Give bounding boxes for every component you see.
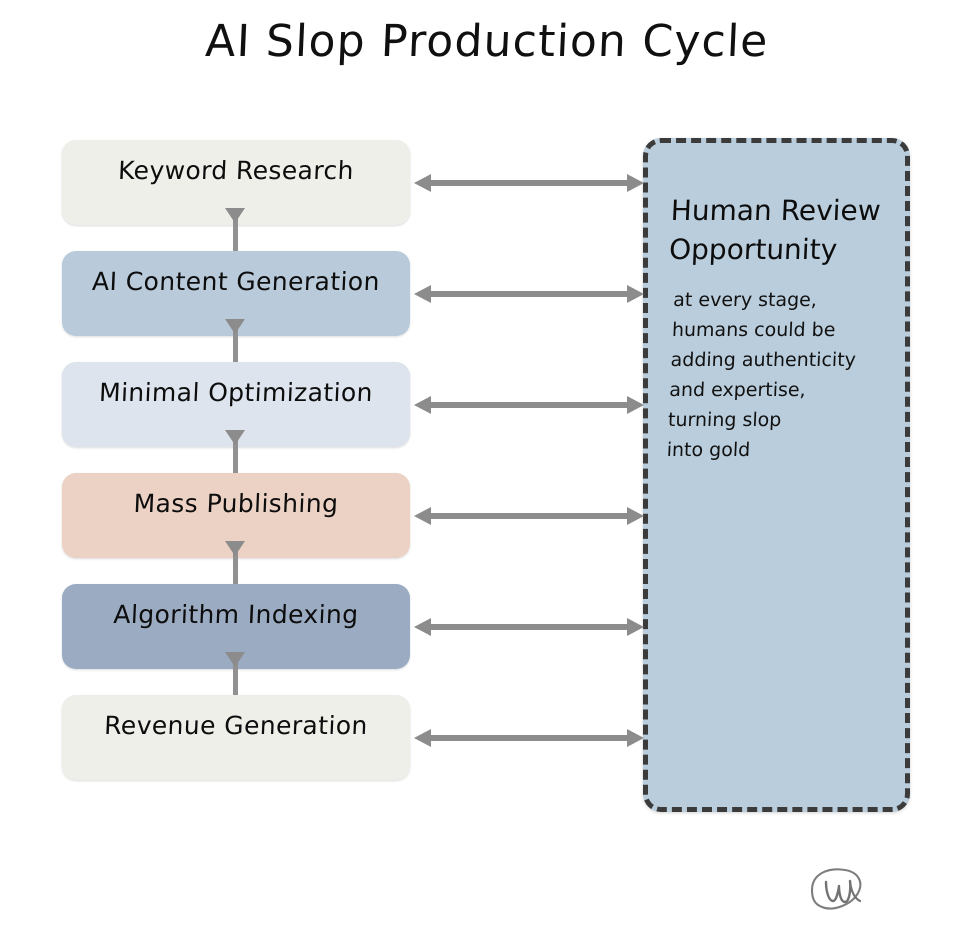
arrow-shaft (427, 624, 631, 630)
connector-arrowhead-down-icon (225, 319, 245, 334)
arrowhead-right-icon (627, 618, 644, 636)
page-title: AI Slop Production Cycle (0, 16, 974, 67)
arrowhead-right-icon (627, 174, 644, 192)
connector-arrowhead-down-icon (225, 208, 245, 223)
connector-arrowhead-down-icon (225, 430, 245, 445)
arrow-shaft (427, 513, 631, 519)
flow-step-3[interactable]: Minimal Optimization (62, 362, 410, 447)
human-review-panel: Human Review Opportunity at every stage,… (643, 138, 910, 812)
arrowhead-left-icon (414, 285, 431, 303)
arrowhead-right-icon (627, 507, 644, 525)
arrow-shaft (427, 402, 631, 408)
connector-arrowhead-down-icon (225, 541, 245, 556)
arrowhead-right-icon (627, 396, 644, 414)
diagram-canvas: AI Slop Production Cycle Keyword Researc… (0, 0, 974, 948)
flow-step-2[interactable]: AI Content Generation (62, 251, 410, 336)
review-link-arrow-3 (414, 395, 644, 415)
arrowhead-left-icon (414, 618, 431, 636)
flow-step-label: Revenue Generation (61, 711, 410, 741)
flow-step-6[interactable]: Revenue Generation (62, 695, 410, 780)
arrowhead-left-icon (414, 174, 431, 192)
arrow-shaft (427, 291, 631, 297)
review-link-arrow-5 (414, 617, 644, 637)
circled-w-signature-icon (800, 860, 870, 920)
review-link-arrow-2 (414, 284, 644, 304)
flow-step-label: Minimal Optimization (61, 378, 410, 408)
human-review-panel-body: at every stage, humans could be adding a… (666, 285, 906, 465)
flow-step-label: AI Content Generation (61, 267, 410, 297)
arrowhead-left-icon (414, 729, 431, 747)
flow-step-label: Algorithm Indexing (61, 600, 410, 630)
human-review-panel-title: Human Review Opportunity (668, 191, 897, 269)
arrowhead-left-icon (414, 396, 431, 414)
arrowhead-right-icon (627, 729, 644, 747)
flow-step-1[interactable]: Keyword Research (62, 140, 410, 225)
arrowhead-left-icon (414, 507, 431, 525)
flow-step-column: Keyword ResearchAI Content GenerationMin… (62, 140, 410, 780)
arrowhead-right-icon (627, 285, 644, 303)
flow-step-label: Mass Publishing (61, 489, 410, 519)
flow-step-5[interactable]: Algorithm Indexing (62, 584, 410, 669)
connector-arrowhead-down-icon (225, 652, 245, 667)
flow-step-label: Keyword Research (61, 156, 410, 186)
review-link-arrow-6 (414, 728, 644, 748)
review-link-arrow-4 (414, 506, 644, 526)
arrow-shaft (427, 735, 631, 741)
flow-step-4[interactable]: Mass Publishing (62, 473, 410, 558)
review-link-arrow-1 (414, 173, 644, 193)
arrow-shaft (427, 180, 631, 186)
